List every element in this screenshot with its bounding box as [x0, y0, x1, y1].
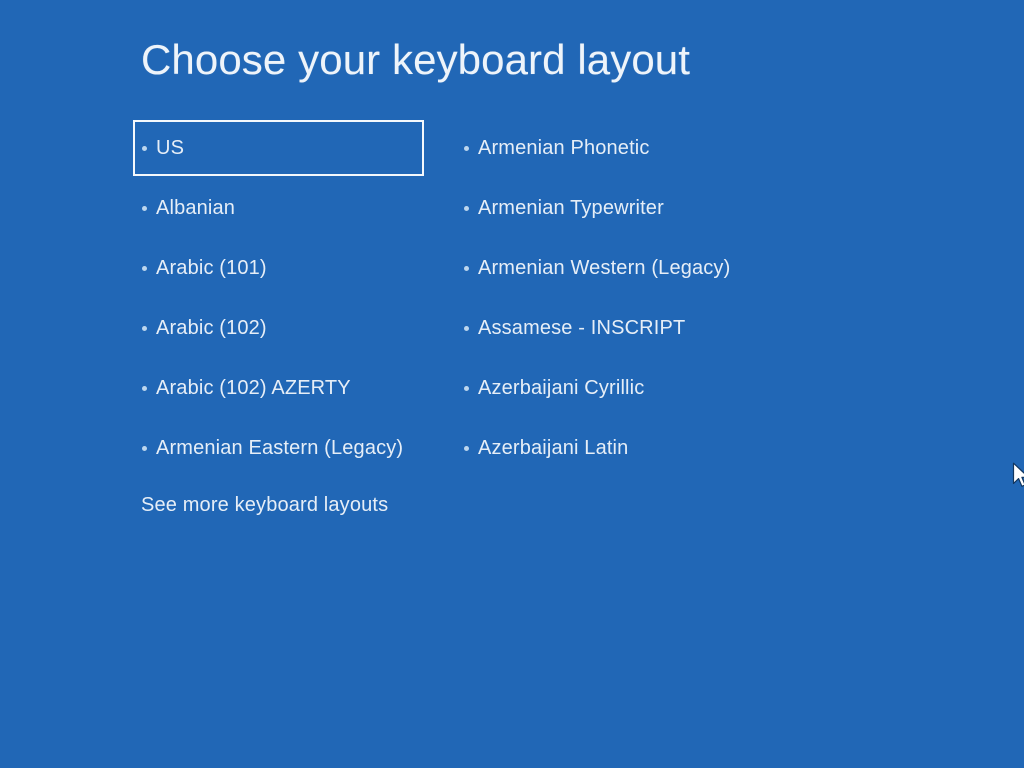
keyboard-layout-label: Azerbaijani Latin: [478, 438, 628, 458]
keyboard-layout-item[interactable]: Albanian: [133, 180, 424, 236]
keyboard-layout-item[interactable]: US: [133, 120, 424, 176]
keyboard-layout-label: Assamese - INSCRIPT: [478, 318, 685, 338]
keyboard-layout-label: Armenian Typewriter: [478, 198, 664, 218]
keyboard-layout-item[interactable]: Armenian Eastern (Legacy): [133, 420, 424, 476]
keyboard-layout-label: Arabic (102) AZERTY: [156, 378, 351, 398]
bullet-icon: [142, 206, 147, 211]
bullet-icon: [142, 446, 147, 451]
keyboard-layout-item[interactable]: Azerbaijani Cyrillic: [455, 360, 855, 416]
keyboard-layout-label: Armenian Eastern (Legacy): [156, 438, 403, 458]
keyboard-layout-label: Arabic (102): [156, 318, 267, 338]
keyboard-layout-item[interactable]: Arabic (102): [133, 300, 424, 356]
keyboard-layout-label: Azerbaijani Cyrillic: [478, 378, 644, 398]
keyboard-layout-item[interactable]: Armenian Phonetic: [455, 120, 855, 176]
bullet-icon: [142, 146, 147, 151]
keyboard-layout-item[interactable]: Azerbaijani Latin: [455, 420, 855, 476]
keyboard-layout-label: Arabic (101): [156, 258, 267, 278]
keyboard-layout-label: Armenian Phonetic: [478, 138, 650, 158]
keyboard-layout-item[interactable]: Arabic (102) AZERTY: [133, 360, 424, 416]
bullet-icon: [142, 386, 147, 391]
keyboard-layout-label: Albanian: [156, 198, 235, 218]
keyboard-layout-item[interactable]: Armenian Typewriter: [455, 180, 855, 236]
keyboard-layout-list: USAlbanianArabic (101)Arabic (102)Arabic…: [0, 0, 1024, 560]
bullet-icon: [142, 326, 147, 331]
bullet-icon: [464, 146, 469, 151]
keyboard-layout-label: US: [156, 138, 184, 158]
bullet-icon: [464, 326, 469, 331]
keyboard-layout-screen: Choose your keyboard layout USAlbanianAr…: [0, 0, 1024, 768]
keyboard-layout-item[interactable]: Assamese - INSCRIPT: [455, 300, 855, 356]
bullet-icon: [464, 266, 469, 271]
bullet-icon: [464, 446, 469, 451]
see-more-keyboard-layouts-link[interactable]: See more keyboard layouts: [141, 492, 388, 518]
bullet-icon: [142, 266, 147, 271]
keyboard-layout-label: Armenian Western (Legacy): [478, 258, 730, 278]
keyboard-layout-item[interactable]: Armenian Western (Legacy): [455, 240, 855, 296]
bullet-icon: [464, 386, 469, 391]
keyboard-layout-item[interactable]: Arabic (101): [133, 240, 424, 296]
bullet-icon: [464, 206, 469, 211]
